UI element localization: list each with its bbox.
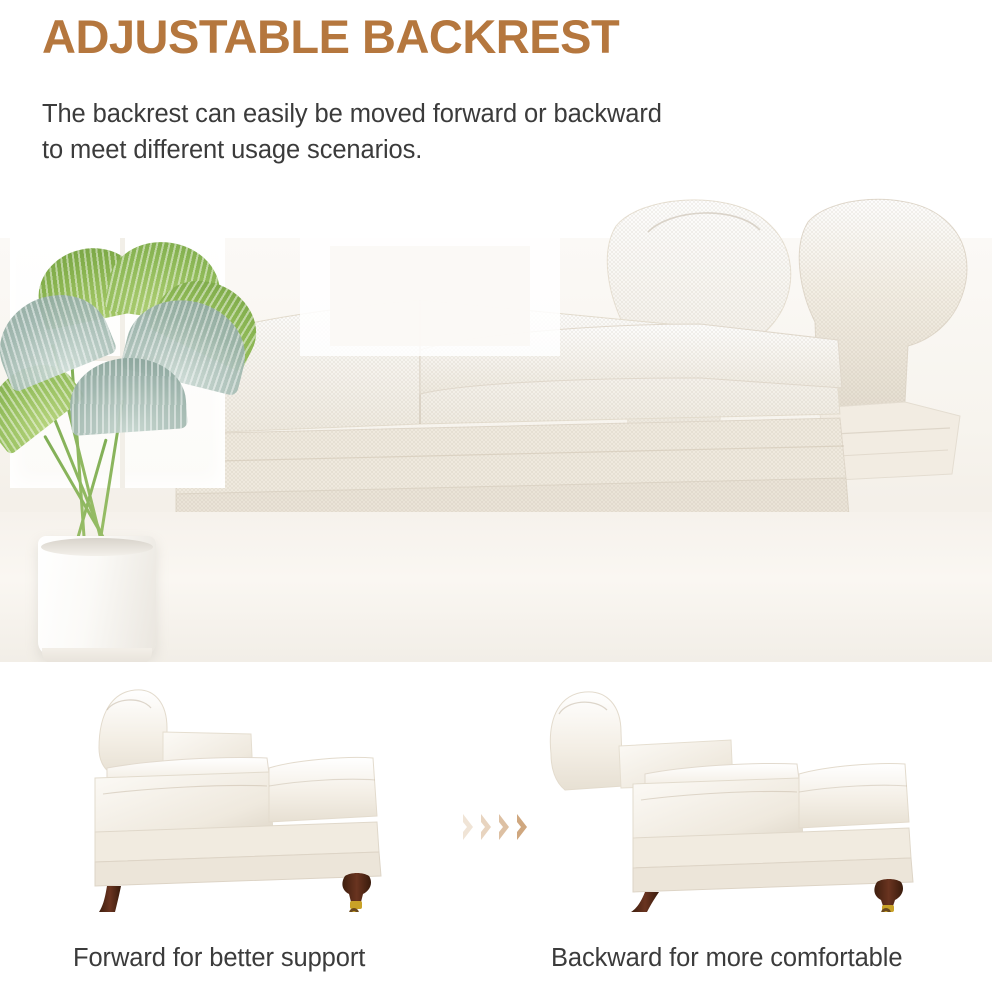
wall-panel-inner [330,246,530,346]
hero-image [0,238,992,662]
transition-arrows [462,806,538,850]
caption-forward: Forward for better support [73,944,365,973]
plant-pot [38,536,156,656]
chevron-right-icon [498,812,511,842]
chaise-backward-illustration [535,676,955,912]
thumbnail-backward [535,676,955,912]
chevron-right-icon [516,812,529,842]
hero-scene [0,238,992,662]
chaise-forward-illustration [55,676,475,912]
pot-rim [41,538,153,556]
caption-backward: Backward for more comfortable [551,944,902,973]
chevron-right-icon [462,812,475,842]
thumbnail-forward [55,676,475,912]
page-title: ADJUSTABLE BACKREST [42,12,619,61]
chevron-right-icon [480,812,493,842]
comparison-row [0,676,1000,926]
page-subtitle: The backrest can easily be moved forward… [42,96,662,168]
